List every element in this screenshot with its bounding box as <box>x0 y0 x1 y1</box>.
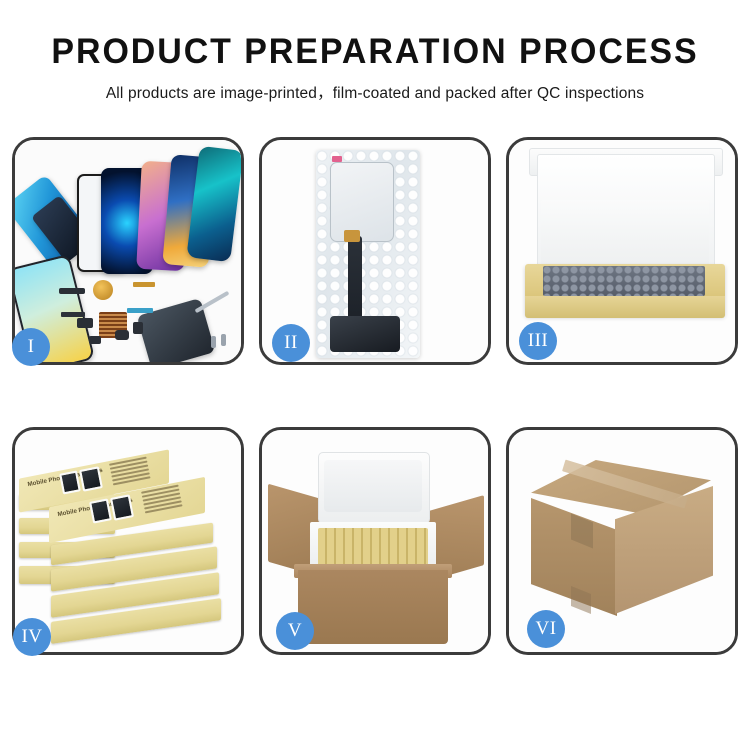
box-window-icon <box>110 494 134 520</box>
box-window-icon <box>89 498 112 523</box>
bubble-wrap-bag <box>316 150 420 358</box>
process-step-4[interactable]: Mobile Phone Spare Parts Mobile Phone Sp… <box>12 427 244 655</box>
small-part-icon <box>115 330 129 340</box>
step-badge-4: IV <box>13 618 51 656</box>
process-step-3[interactable]: III <box>506 137 738 365</box>
foam-lid-inner-icon <box>324 460 422 512</box>
page-header: PRODUCT PREPARATION PROCESS All products… <box>0 0 750 103</box>
kraft-tray-front-icon <box>525 296 725 318</box>
process-step-grid: I II III <box>12 137 738 682</box>
step-4-image: Mobile Phone Spare Parts Mobile Phone Sp… <box>15 430 241 652</box>
screen-assembly-icon <box>330 162 394 242</box>
process-step-1[interactable]: I <box>12 137 244 365</box>
component-cluster-icon <box>330 316 400 352</box>
flex-cable-icon <box>127 308 153 313</box>
bubble-wrapped-item-icon <box>543 266 705 296</box>
connector-icon <box>344 230 360 242</box>
carton-body-icon <box>298 570 448 644</box>
small-part-icon <box>133 322 143 334</box>
screw-icon <box>221 334 226 346</box>
step-badge-5: V <box>276 612 314 650</box>
process-step-5[interactable]: V <box>259 427 491 655</box>
process-step-2[interactable]: II <box>259 137 491 365</box>
screw-icon <box>211 336 216 348</box>
pink-label-icon <box>332 156 342 162</box>
small-part-icon <box>77 318 93 328</box>
flex-cable-icon <box>133 282 155 287</box>
box-stack: Mobile Phone Spare Parts Mobile Phone Sp… <box>15 430 241 652</box>
process-step-6[interactable]: VI <box>506 427 738 655</box>
flex-cable-icon <box>61 312 85 317</box>
step-badge-6: VI <box>527 610 565 648</box>
box-window-icon <box>79 466 103 491</box>
page-subtitle: All products are image-printed，film-coat… <box>0 81 750 103</box>
small-part-icon <box>59 288 85 294</box>
phones-and-parts-illustration <box>15 140 241 362</box>
step-badge-2: II <box>272 324 310 362</box>
small-part-icon <box>89 336 101 344</box>
step-badge-1: I <box>12 328 50 366</box>
copper-coil-icon <box>93 280 113 300</box>
page-title: PRODUCT PREPARATION PROCESS <box>11 34 739 69</box>
step-1-image <box>15 140 241 362</box>
step-badge-3: III <box>519 322 557 360</box>
box-window-icon <box>59 470 81 494</box>
